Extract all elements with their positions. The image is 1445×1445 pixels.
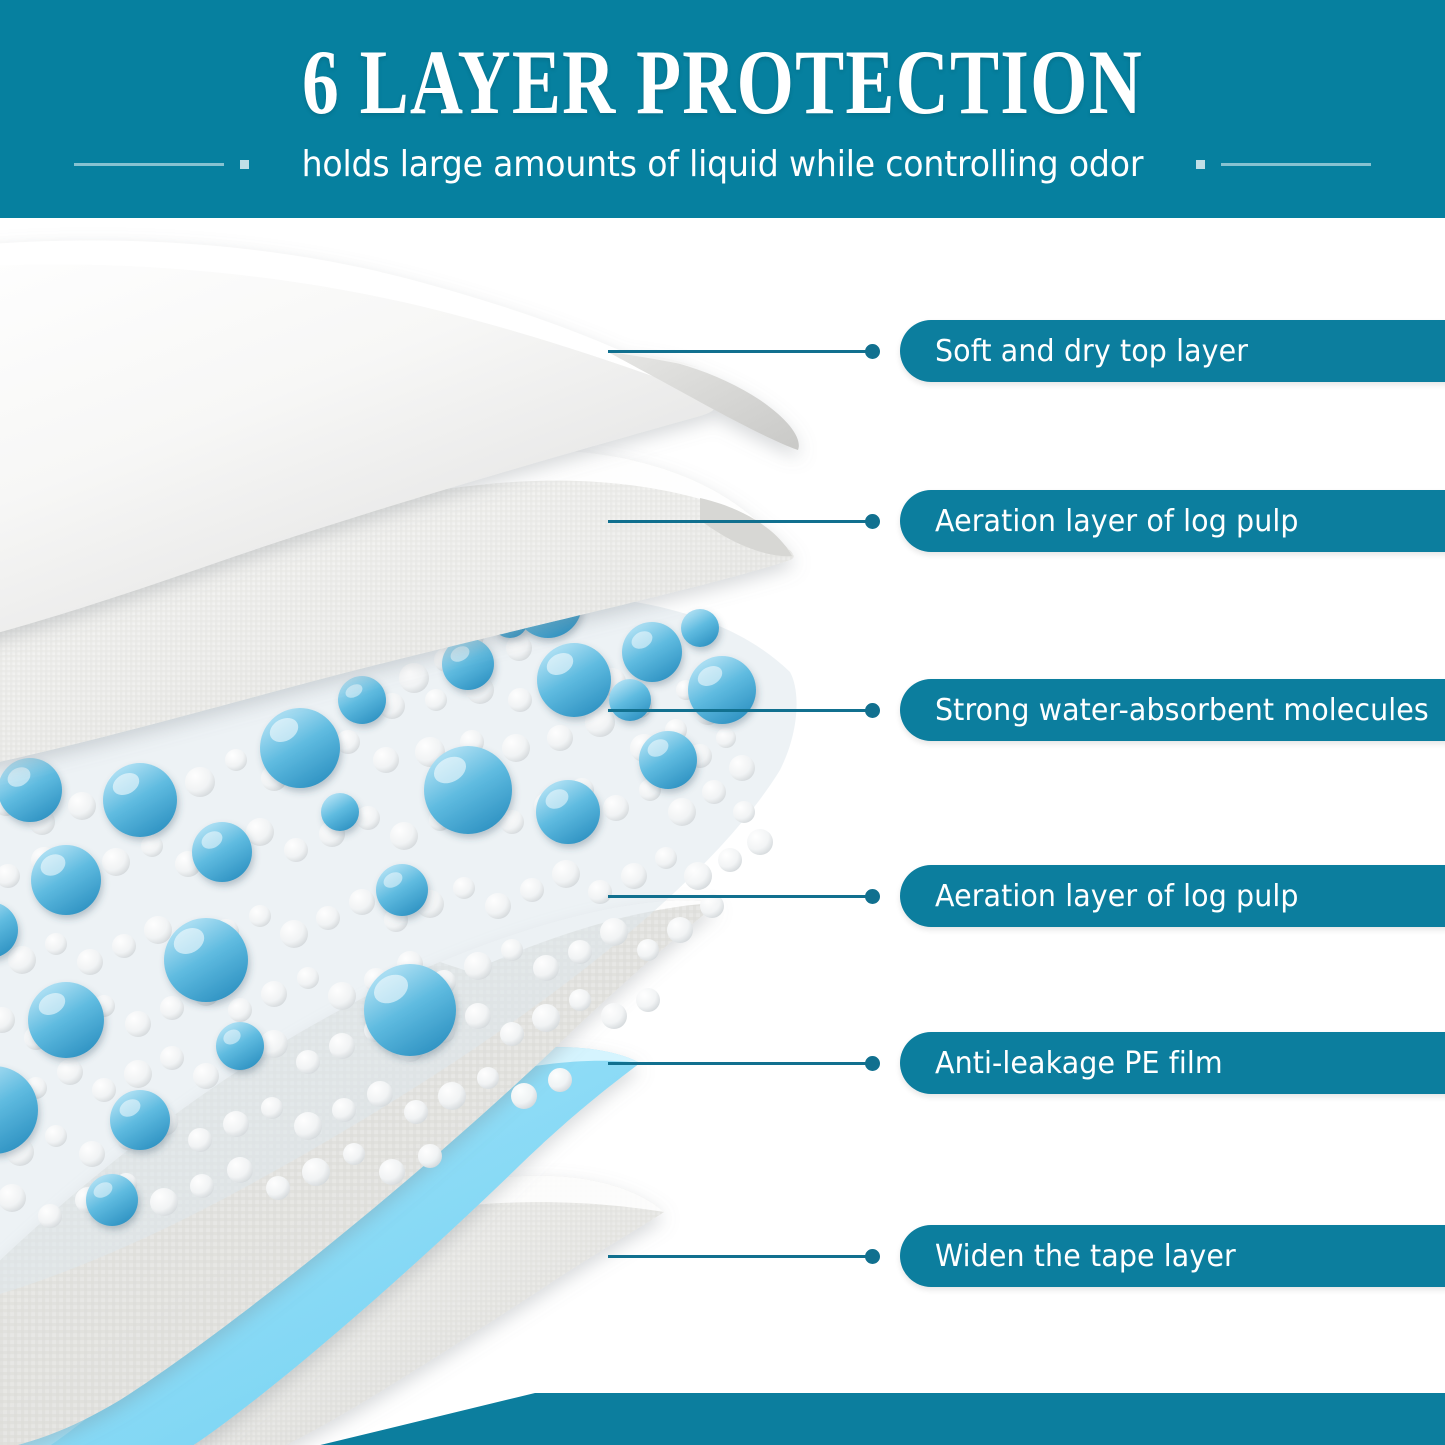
pill-label-text: Aeration layer of log pulp: [935, 504, 1299, 539]
leader-line: [608, 709, 874, 712]
leader-line: [608, 895, 874, 898]
label-pill-widen-the-tape-layer[interactable]: Widen the tape layer: [900, 1225, 1445, 1287]
leader-dot: [865, 889, 880, 904]
label-pill-anti-leakage-pe-film[interactable]: Anti-leakage PE film: [900, 1032, 1445, 1094]
leader-line: [608, 1062, 874, 1065]
label-pill-soft-and-dry-top-layer[interactable]: Soft and dry top layer: [900, 320, 1445, 382]
leader-dot: [865, 1249, 880, 1264]
pill-label-text: Widen the tape layer: [935, 1239, 1236, 1274]
leader-line: [608, 1255, 874, 1258]
subtitle-rule-right: [1221, 163, 1371, 166]
header-banner: 6 LAYER PROTECTION holds large amounts o…: [0, 0, 1445, 218]
subtitle-rule-left: [74, 163, 224, 166]
subtitle-square-right: [1196, 160, 1205, 169]
leader-dot: [865, 514, 880, 529]
leader-dot: [865, 703, 880, 718]
page-subtitle: holds large amounts of liquid while cont…: [302, 144, 1144, 185]
page-title: 6 LAYER PROTECTION: [145, 36, 1301, 128]
label-pill-aeration-layer-of-log-pulp-top[interactable]: Aeration layer of log pulp: [900, 490, 1445, 552]
label-pill-aeration-layer-of-log-pulp-bottom[interactable]: Aeration layer of log pulp: [900, 865, 1445, 927]
leader-dot: [865, 344, 880, 359]
pill-label-text: Soft and dry top layer: [935, 334, 1248, 369]
pill-label-text: Strong water-absorbent molecules: [935, 693, 1429, 728]
subtitle-row: holds large amounts of liquid while cont…: [0, 140, 1445, 188]
pill-label-text: Anti-leakage PE film: [935, 1046, 1223, 1081]
leader-line: [608, 350, 874, 353]
leader-dot: [865, 1056, 880, 1071]
label-pill-strong-water-absorbent-molecules[interactable]: Strong water-absorbent molecules: [900, 679, 1445, 741]
pill-label-text: Aeration layer of log pulp: [935, 879, 1299, 914]
leader-line: [608, 520, 874, 523]
infographic-canvas: 6 LAYER PROTECTION holds large amounts o…: [0, 0, 1445, 1445]
subtitle-square-left: [240, 160, 249, 169]
